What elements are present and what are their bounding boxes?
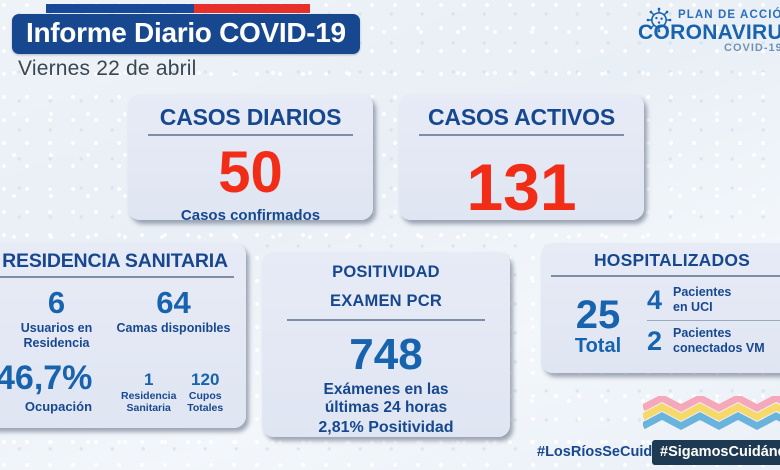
- hospitalizados-total-label: Total: [555, 336, 641, 356]
- pcr-label-line2: últimas 24 horas: [262, 399, 510, 417]
- pcr-label-line1: Exámenes en las: [262, 381, 510, 399]
- casos-diarios-value: 50: [128, 144, 373, 202]
- hospitalizados-vm-label-group: Pacientes conectados VM: [673, 326, 765, 356]
- divider: [647, 320, 780, 322]
- residencia-camas-value: 64: [115, 287, 232, 318]
- casos-diarios-heading: CASOS DIARIOS: [128, 94, 373, 129]
- infographic-root: Informe Diario COVID-19 Viernes 22 de ab…: [0, 0, 780, 470]
- divider: [551, 275, 780, 277]
- residencia-cupos-label: Cupos Totales: [176, 390, 234, 414]
- pcr-value: 748: [262, 333, 510, 377]
- divider: [287, 319, 485, 321]
- hospitalizados-vm-value: 2: [647, 328, 673, 355]
- residencia-ocupacion-value: 46,7%: [0, 361, 121, 395]
- residencia-cupos-value: 120: [176, 371, 234, 388]
- page-title: Informe Diario COVID-19: [26, 18, 346, 48]
- pcr-positividad-rate: 2,81% Positividad: [262, 419, 510, 437]
- flag-red-segment: [194, 4, 310, 13]
- chile-flag-bar: [46, 4, 310, 13]
- pcr-heading-line2: EXAMEN PCR: [262, 281, 510, 310]
- residencia-usuarios-label: Usuarios en Residencia: [0, 321, 115, 351]
- hospitalizados-vm-label-line2: conectados VM: [673, 341, 765, 356]
- casos-activos-value: 131: [399, 154, 644, 220]
- residencia-ocupacion: 46,7% Ocupación: [0, 361, 121, 414]
- hospitalizados-uci: 4 Pacientes en UCI: [647, 285, 780, 315]
- page-title-banner: Informe Diario COVID-19: [12, 14, 360, 54]
- flag-blue-segment: [46, 4, 194, 13]
- residencia-camas: 64 Camas disponibles: [115, 287, 232, 351]
- casos-activos-heading: CASOS ACTIVOS: [399, 94, 644, 129]
- brand-plan-text: PLAN DE ACCIÓN: [678, 9, 780, 21]
- card-hospitalizados: HOSPITALIZADOS 25 Total 4 Pacientes en U…: [541, 243, 780, 373]
- hospitalizados-total-value: 25: [555, 295, 641, 335]
- hospitalizados-body: 25 Total 4 Pacientes en UCI 2 Pacientes …: [541, 285, 780, 356]
- residencia-bottom-row: 46,7% Ocupación 1 Residencia Sanitaria 1…: [0, 361, 246, 414]
- zigzag-decoration-icon: [643, 396, 780, 430]
- card-casos-activos: CASOS ACTIVOS 131: [399, 94, 644, 220]
- hospitalizados-vm-label-line1: Pacientes: [673, 326, 765, 341]
- residencia-cupos: 120 Cupos Totales: [176, 371, 234, 414]
- hospitalizados-breakdown: 4 Pacientes en UCI 2 Pacientes conectado…: [641, 285, 780, 356]
- hospitalizados-heading: HOSPITALIZADOS: [541, 243, 780, 269]
- residencia-count-value: 1: [121, 371, 177, 388]
- residencia-usuarios-value: 6: [0, 287, 115, 318]
- hashtag-losriossecuida: #LosRíosSeCuida: [537, 444, 660, 460]
- residencia-heading: RESIDENCIA SANITARIA: [0, 243, 246, 271]
- card-residencia-sanitaria: RESIDENCIA SANITARIA 6 Usuarios en Resid…: [0, 243, 246, 428]
- divider: [0, 276, 234, 278]
- report-date: Viernes 22 de abril: [18, 57, 197, 81]
- residencia-usuarios: 6 Usuarios en Residencia: [0, 287, 115, 351]
- hospitalizados-uci-value: 4: [647, 287, 673, 314]
- residencia-ocupacion-label: Ocupación: [0, 399, 121, 414]
- hospitalizados-vm: 2 Pacientes conectados VM: [647, 326, 780, 356]
- pcr-heading-line1: POSITIVIDAD: [262, 252, 510, 281]
- residencia-count-label: Residencia Sanitaria: [121, 390, 177, 414]
- hospitalizados-uci-label-line1: Pacientes: [673, 285, 731, 300]
- residencia-top-row: 6 Usuarios en Residencia 64 Camas dispon…: [0, 287, 246, 351]
- residencia-count: 1 Residencia Sanitaria: [121, 371, 177, 414]
- divider: [148, 134, 354, 136]
- hashtag-sigamoscuidandonos: #SigamosCuidándonos: [652, 440, 780, 465]
- hospitalizados-total: 25 Total: [555, 285, 641, 356]
- brand-covid-text: COVID-19: [724, 42, 780, 54]
- residencia-camas-label: Camas disponibles: [115, 321, 232, 336]
- hospitalizados-uci-label-group: Pacientes en UCI: [673, 285, 731, 315]
- casos-diarios-label: Casos confirmados: [128, 207, 373, 224]
- coronavirus-brand-logo: PLAN DE ACCIÓN CORONAVIRUS COVID-19: [638, 4, 780, 52]
- card-positividad-pcr: POSITIVIDAD EXAMEN PCR 748 Exámenes en l…: [262, 252, 510, 437]
- divider: [419, 134, 625, 136]
- card-casos-diarios: CASOS DIARIOS 50 Casos confirmados: [128, 94, 373, 220]
- hospitalizados-uci-label-line2: en UCI: [673, 300, 731, 315]
